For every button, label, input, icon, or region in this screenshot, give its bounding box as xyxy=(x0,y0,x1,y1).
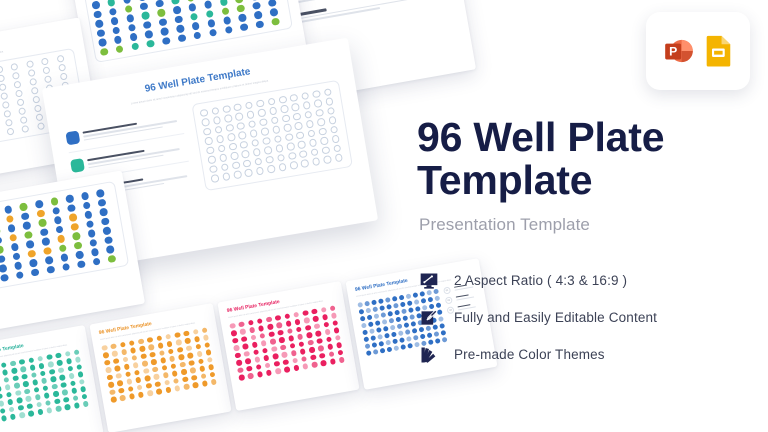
well xyxy=(394,309,400,315)
well xyxy=(255,364,261,370)
well xyxy=(243,159,252,168)
well xyxy=(95,19,104,28)
well xyxy=(384,332,390,338)
well xyxy=(11,242,20,251)
well xyxy=(36,209,45,218)
well xyxy=(310,354,316,360)
well xyxy=(286,328,292,334)
well xyxy=(244,351,250,357)
well xyxy=(219,154,228,163)
page-title: 96 Well Plate Template xyxy=(417,116,747,201)
well xyxy=(228,142,237,151)
well xyxy=(104,236,113,245)
well xyxy=(232,337,238,343)
well xyxy=(157,8,166,17)
well xyxy=(29,78,37,86)
aspect-ratio-monitor-icon xyxy=(418,270,440,292)
well xyxy=(312,157,321,166)
well xyxy=(141,11,150,20)
well xyxy=(16,271,25,280)
well xyxy=(256,99,265,108)
well xyxy=(204,0,213,9)
well xyxy=(131,42,140,51)
well xyxy=(98,38,107,47)
well xyxy=(270,338,276,344)
well xyxy=(401,308,407,314)
well xyxy=(273,361,279,367)
well xyxy=(0,393,3,399)
well xyxy=(14,382,20,388)
well xyxy=(375,320,381,326)
slide-mockup-theme-pink: 96 Well Plate Template Lorem ipsum dolor… xyxy=(217,281,359,411)
well xyxy=(103,352,109,358)
well xyxy=(302,363,308,369)
well xyxy=(52,206,61,215)
well xyxy=(238,131,247,140)
well xyxy=(6,391,12,397)
well xyxy=(96,189,105,198)
well xyxy=(66,358,72,364)
well xyxy=(201,380,207,386)
well xyxy=(72,395,78,401)
well xyxy=(70,222,79,231)
well xyxy=(304,111,313,120)
well xyxy=(209,28,218,37)
well xyxy=(275,368,281,374)
well xyxy=(316,338,322,344)
well xyxy=(241,150,250,159)
well xyxy=(41,58,49,66)
well xyxy=(159,18,168,27)
well xyxy=(188,360,194,366)
well xyxy=(4,205,13,214)
well xyxy=(221,7,230,16)
powerpoint-icon: P xyxy=(662,34,696,68)
well xyxy=(53,216,62,225)
well xyxy=(156,335,162,341)
well xyxy=(380,347,386,353)
well xyxy=(30,372,36,378)
well xyxy=(107,0,116,6)
well xyxy=(208,364,214,370)
well xyxy=(337,349,343,355)
well xyxy=(247,319,253,325)
well xyxy=(101,217,110,226)
well xyxy=(129,32,138,41)
well xyxy=(305,325,311,331)
well xyxy=(217,144,226,153)
well xyxy=(91,1,100,10)
well xyxy=(361,322,367,328)
slide-mockup-filled-plate-mid xyxy=(0,170,145,340)
well xyxy=(320,360,326,366)
well xyxy=(391,331,397,337)
well xyxy=(41,237,50,246)
well xyxy=(59,73,67,81)
well xyxy=(43,392,49,398)
well xyxy=(190,12,199,21)
well xyxy=(357,302,363,308)
well xyxy=(155,0,164,8)
well xyxy=(229,323,235,329)
well xyxy=(135,377,141,383)
well xyxy=(112,26,121,35)
well xyxy=(55,225,64,234)
well xyxy=(297,334,303,340)
well xyxy=(77,260,86,269)
well xyxy=(54,398,60,404)
well xyxy=(280,105,289,114)
well xyxy=(168,348,174,354)
well xyxy=(146,39,155,48)
well xyxy=(60,382,66,388)
well xyxy=(360,315,366,321)
well xyxy=(14,81,22,89)
well xyxy=(378,298,384,304)
well xyxy=(162,372,168,378)
well xyxy=(19,412,25,418)
well xyxy=(232,161,241,170)
well xyxy=(126,14,135,23)
well xyxy=(75,356,81,362)
well xyxy=(138,0,147,1)
well xyxy=(40,228,49,237)
well xyxy=(149,351,155,357)
well xyxy=(196,351,202,357)
well xyxy=(277,329,283,335)
well xyxy=(177,347,183,353)
well xyxy=(58,367,64,373)
well xyxy=(389,317,395,323)
well xyxy=(325,97,334,106)
well xyxy=(60,253,69,262)
well xyxy=(183,384,189,390)
well xyxy=(201,118,210,127)
well xyxy=(247,373,253,379)
well xyxy=(87,229,96,238)
well xyxy=(81,191,90,200)
well xyxy=(11,368,17,374)
well xyxy=(230,152,239,161)
well xyxy=(112,350,118,356)
well xyxy=(15,390,21,396)
well xyxy=(183,330,189,336)
bullet-marker-teal xyxy=(70,158,85,173)
well xyxy=(114,35,123,44)
well xyxy=(240,23,249,32)
well xyxy=(245,101,254,110)
well xyxy=(104,359,110,365)
well xyxy=(273,135,282,144)
well xyxy=(279,337,285,343)
well xyxy=(284,366,290,372)
well xyxy=(0,93,8,101)
well xyxy=(140,2,149,11)
product-info-panel: P 96 Well Plate Template Presentation Te… xyxy=(414,0,768,432)
well xyxy=(113,358,119,364)
well xyxy=(399,337,405,343)
well xyxy=(138,338,144,344)
well xyxy=(254,10,263,19)
well xyxy=(266,370,272,376)
well xyxy=(105,367,111,373)
well xyxy=(20,116,28,124)
well xyxy=(178,34,187,43)
well xyxy=(339,357,345,363)
well xyxy=(331,312,337,318)
well xyxy=(251,139,260,148)
well xyxy=(306,332,312,338)
well xyxy=(263,355,269,361)
well xyxy=(272,353,278,359)
well xyxy=(69,213,78,222)
feature-item-color-themes: Pre-made Color Themes xyxy=(418,336,758,373)
well xyxy=(281,352,287,358)
well xyxy=(248,120,257,129)
well xyxy=(299,150,308,159)
well xyxy=(50,197,59,206)
well xyxy=(62,389,68,395)
well xyxy=(34,394,40,400)
well xyxy=(57,234,66,243)
well xyxy=(140,353,146,359)
well xyxy=(17,405,23,411)
well xyxy=(290,350,296,356)
well xyxy=(171,370,177,376)
color-palette-fan-icon xyxy=(418,344,440,366)
well xyxy=(383,326,389,332)
well xyxy=(46,354,52,360)
well xyxy=(264,362,270,368)
well xyxy=(366,350,372,356)
well xyxy=(108,382,114,388)
well xyxy=(165,387,171,393)
well xyxy=(138,392,144,398)
well xyxy=(68,373,74,379)
feature-item-editable: Fully and Easily Editable Content xyxy=(418,299,758,336)
well xyxy=(15,90,23,98)
well xyxy=(109,389,115,395)
well xyxy=(268,0,277,7)
well xyxy=(385,297,391,303)
well xyxy=(359,309,365,315)
well xyxy=(108,254,117,263)
well xyxy=(408,307,414,313)
well xyxy=(96,29,105,38)
well xyxy=(282,114,291,123)
well xyxy=(147,390,153,396)
well xyxy=(27,403,33,409)
well xyxy=(294,319,300,325)
well xyxy=(293,311,299,317)
well xyxy=(254,356,260,362)
well xyxy=(371,299,377,305)
feature-label: Pre-made Color Themes xyxy=(454,347,605,362)
well xyxy=(327,107,336,116)
well xyxy=(58,244,67,253)
well xyxy=(193,31,202,40)
well xyxy=(259,333,265,339)
well xyxy=(291,103,300,112)
well xyxy=(313,316,319,322)
well xyxy=(284,313,290,319)
well xyxy=(173,6,182,15)
well xyxy=(192,329,198,335)
well xyxy=(117,380,123,386)
well xyxy=(222,105,231,114)
well xyxy=(311,362,317,368)
well xyxy=(285,320,291,326)
well xyxy=(9,233,18,242)
well xyxy=(369,328,375,334)
well xyxy=(182,376,188,382)
well xyxy=(2,101,10,109)
well xyxy=(55,352,61,358)
well xyxy=(205,9,214,18)
well xyxy=(187,352,193,358)
well xyxy=(256,20,265,29)
well xyxy=(158,350,164,356)
well xyxy=(12,375,18,381)
well xyxy=(2,369,8,375)
well xyxy=(41,378,47,384)
well xyxy=(6,214,15,223)
well xyxy=(319,353,325,359)
well xyxy=(393,345,399,351)
well xyxy=(378,341,384,347)
well xyxy=(334,154,343,163)
well xyxy=(368,321,374,327)
page-title-line1: 96 Well Plate xyxy=(417,116,747,159)
well xyxy=(129,340,135,346)
well xyxy=(249,327,255,333)
well xyxy=(262,137,271,146)
well xyxy=(211,174,220,183)
well xyxy=(288,152,297,161)
well xyxy=(129,393,135,399)
well xyxy=(392,338,398,344)
well xyxy=(160,357,166,363)
well xyxy=(328,116,337,125)
well xyxy=(45,256,54,265)
well xyxy=(0,386,2,392)
well xyxy=(185,338,191,344)
page-subtitle: Presentation Template xyxy=(419,215,590,235)
well xyxy=(270,116,279,125)
well xyxy=(43,67,51,75)
well xyxy=(333,327,339,333)
well xyxy=(67,204,76,213)
well xyxy=(125,371,131,377)
well xyxy=(296,131,305,140)
well xyxy=(28,357,34,363)
well xyxy=(89,238,98,247)
well xyxy=(19,202,28,211)
well xyxy=(118,387,124,393)
well xyxy=(75,250,84,259)
well xyxy=(100,47,109,56)
well xyxy=(277,154,286,163)
well xyxy=(290,94,299,103)
well xyxy=(333,144,342,153)
well xyxy=(64,404,70,410)
well xyxy=(5,119,13,127)
well xyxy=(336,342,342,348)
well xyxy=(385,339,391,345)
well xyxy=(32,96,40,104)
well xyxy=(173,378,179,384)
well xyxy=(45,400,51,406)
well xyxy=(240,328,246,334)
well xyxy=(115,45,124,54)
well xyxy=(72,232,81,241)
well xyxy=(264,146,273,155)
well xyxy=(237,122,246,131)
well xyxy=(234,352,240,358)
well xyxy=(242,343,248,349)
well xyxy=(309,347,315,353)
well xyxy=(0,400,4,406)
well xyxy=(266,316,272,322)
well xyxy=(122,356,128,362)
well xyxy=(110,396,116,402)
well xyxy=(397,323,403,329)
well xyxy=(269,107,278,116)
well xyxy=(272,126,281,135)
well xyxy=(262,347,268,353)
well xyxy=(109,7,118,16)
well xyxy=(231,330,237,336)
well xyxy=(323,321,329,327)
well xyxy=(12,252,21,261)
well xyxy=(222,172,231,181)
well xyxy=(203,127,212,136)
well xyxy=(395,316,401,322)
well xyxy=(127,386,133,392)
bullet-marker-blue xyxy=(65,130,80,145)
well xyxy=(292,357,298,363)
promo-stage: Lorem ipsum dolor sit amet consectetur a… xyxy=(0,0,768,432)
well xyxy=(178,354,184,360)
well xyxy=(77,371,83,377)
well xyxy=(299,348,305,354)
well xyxy=(131,355,137,361)
feature-label: 2 Aspect Ratio ( 4:3 & 16:9 ) xyxy=(454,273,627,288)
well xyxy=(10,414,16,420)
well xyxy=(16,397,22,403)
well xyxy=(314,99,323,108)
well xyxy=(12,72,20,80)
well xyxy=(240,141,249,150)
well xyxy=(307,129,316,138)
well xyxy=(153,374,159,380)
well xyxy=(241,336,247,342)
page-title-line2: Template xyxy=(417,159,747,202)
well xyxy=(3,377,9,383)
well xyxy=(392,296,398,302)
well xyxy=(251,342,257,348)
well xyxy=(44,76,52,84)
well xyxy=(4,384,10,390)
well xyxy=(192,382,198,388)
well xyxy=(225,124,234,133)
well xyxy=(29,258,38,267)
well xyxy=(301,92,310,101)
well xyxy=(207,357,213,363)
well xyxy=(276,322,282,328)
compatible-apps-badge: P xyxy=(646,12,750,90)
well xyxy=(322,314,328,320)
